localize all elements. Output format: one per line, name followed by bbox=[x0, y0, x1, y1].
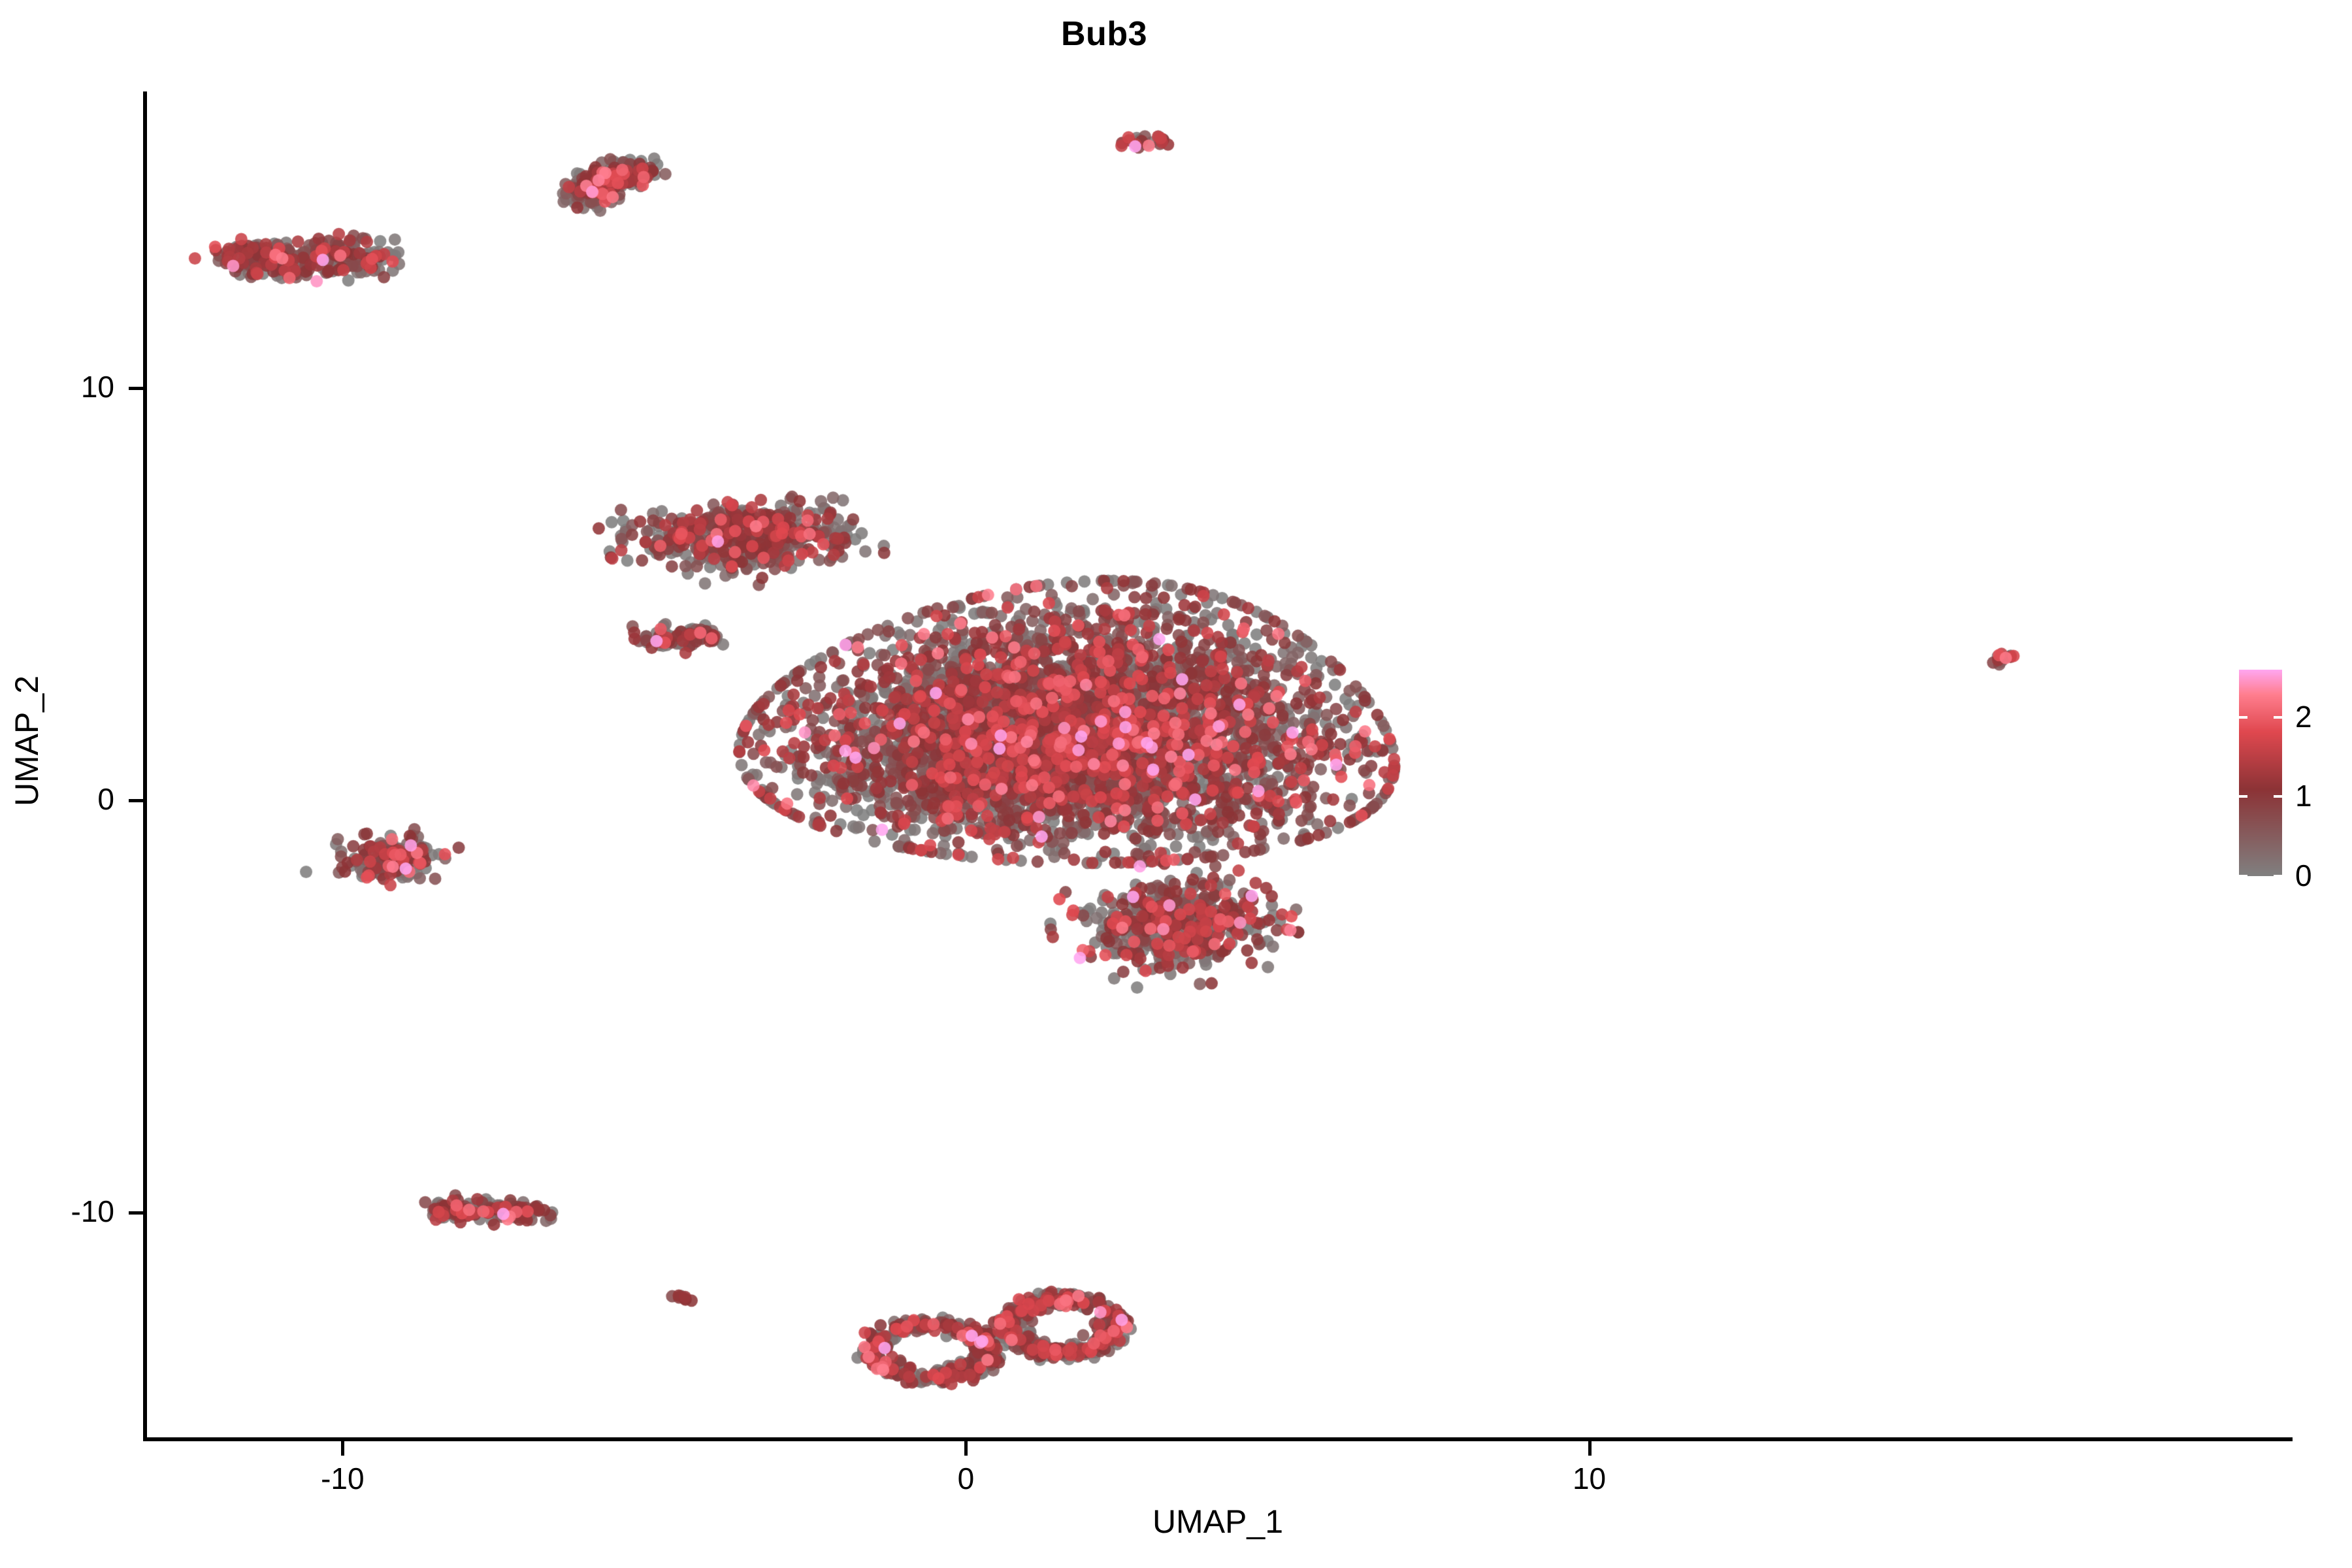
x-tick-label: 10 bbox=[1524, 1461, 1655, 1496]
colorbar-tick-label: 0 bbox=[2295, 858, 2312, 893]
colorbar-tick-mark bbox=[2239, 795, 2247, 798]
y-tick-label: 10 bbox=[0, 369, 114, 404]
x-tick-mark bbox=[1588, 1441, 1592, 1456]
colorbar-tick-label: 2 bbox=[2295, 699, 2312, 734]
x-tick-mark bbox=[341, 1441, 344, 1456]
colorbar-tick-mark bbox=[2274, 716, 2282, 719]
colorbar-tick-mark bbox=[2239, 716, 2247, 719]
colorbar-tick-label: 1 bbox=[2295, 778, 2312, 813]
x-tick-label: 0 bbox=[900, 1461, 1031, 1496]
colorbar-tick-mark bbox=[2239, 875, 2247, 877]
y-tick-mark bbox=[129, 799, 143, 802]
colorbar-gradient bbox=[2239, 670, 2282, 876]
y-tick-mark bbox=[129, 1211, 143, 1215]
y-tick-mark bbox=[129, 387, 143, 390]
colorbar-tick-mark bbox=[2274, 875, 2282, 877]
colorbar-legend: 210 bbox=[2239, 670, 2282, 876]
scatter-points-canvas bbox=[0, 0, 2352, 1568]
y-tick-label: -10 bbox=[0, 1194, 114, 1229]
x-axis-label: UMAP_1 bbox=[143, 1503, 2293, 1541]
plot-root: Bub3 -10010 100-10 UMAP_1 UMAP_2 210 bbox=[0, 0, 2352, 1568]
x-tick-mark bbox=[964, 1441, 968, 1456]
colorbar-tick-mark bbox=[2274, 795, 2282, 798]
x-tick-label: -10 bbox=[277, 1461, 408, 1496]
x-axis-line bbox=[143, 1437, 2293, 1441]
y-axis-line bbox=[143, 91, 147, 1441]
y-axis-label: UMAP_2 bbox=[8, 414, 46, 1068]
